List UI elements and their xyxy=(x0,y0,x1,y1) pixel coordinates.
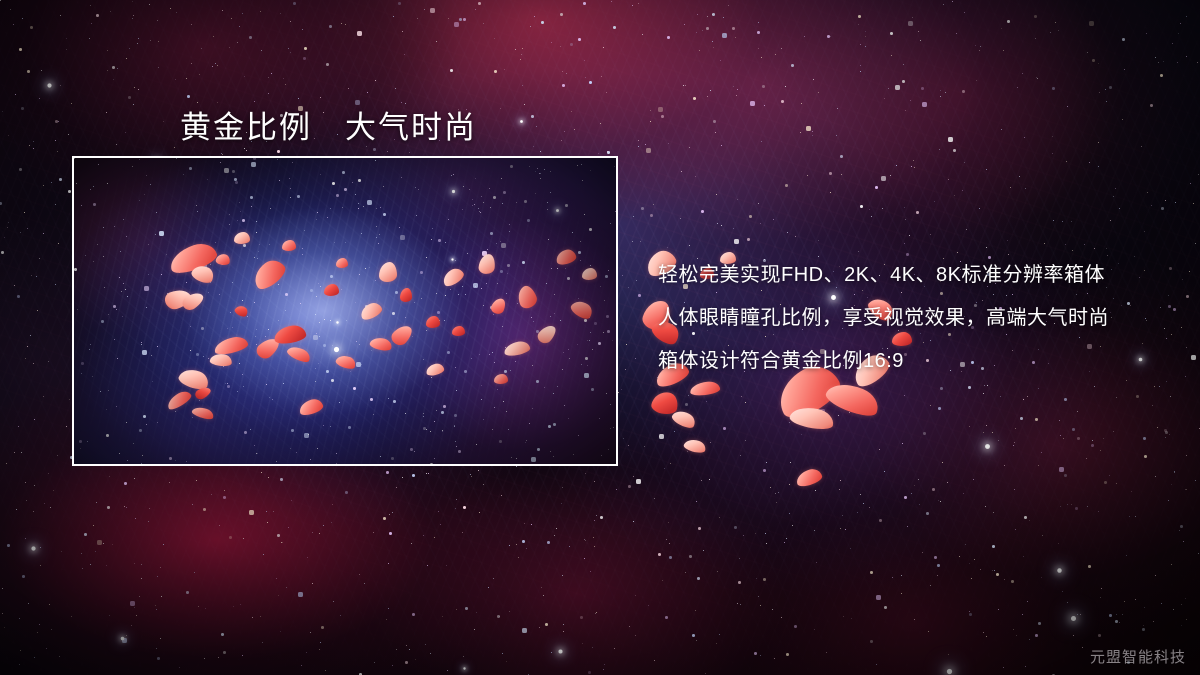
body-line-3: 箱体设计符合黄金比例16:9 xyxy=(658,340,1178,383)
flower-petal xyxy=(683,437,707,455)
body-text-block: 轻松完美实现FHD、2K、4K、8K标准分辨率箱体 人体眼睛瞳孔比例，享受视觉效… xyxy=(658,254,1178,383)
watermark-label: 元盟智能科技 xyxy=(1090,646,1186,667)
body-line-2: 人体眼睛瞳孔比例，享受视觉效果，高端大气时尚 xyxy=(658,297,1178,340)
flower-petal xyxy=(794,467,823,489)
presentation-slide: 黄金比例 大气时尚 轻松完美实现FHD、2K、4K、8K标准分辨率箱体 人体眼睛… xyxy=(0,0,1200,675)
body-line-1: 轻松完美实现FHD、2K、4K、8K标准分辨率箱体 xyxy=(658,254,1178,297)
photo-vignette xyxy=(74,158,616,464)
page-title: 黄金比例 大气时尚 xyxy=(180,102,477,147)
framed-photo xyxy=(72,156,618,466)
